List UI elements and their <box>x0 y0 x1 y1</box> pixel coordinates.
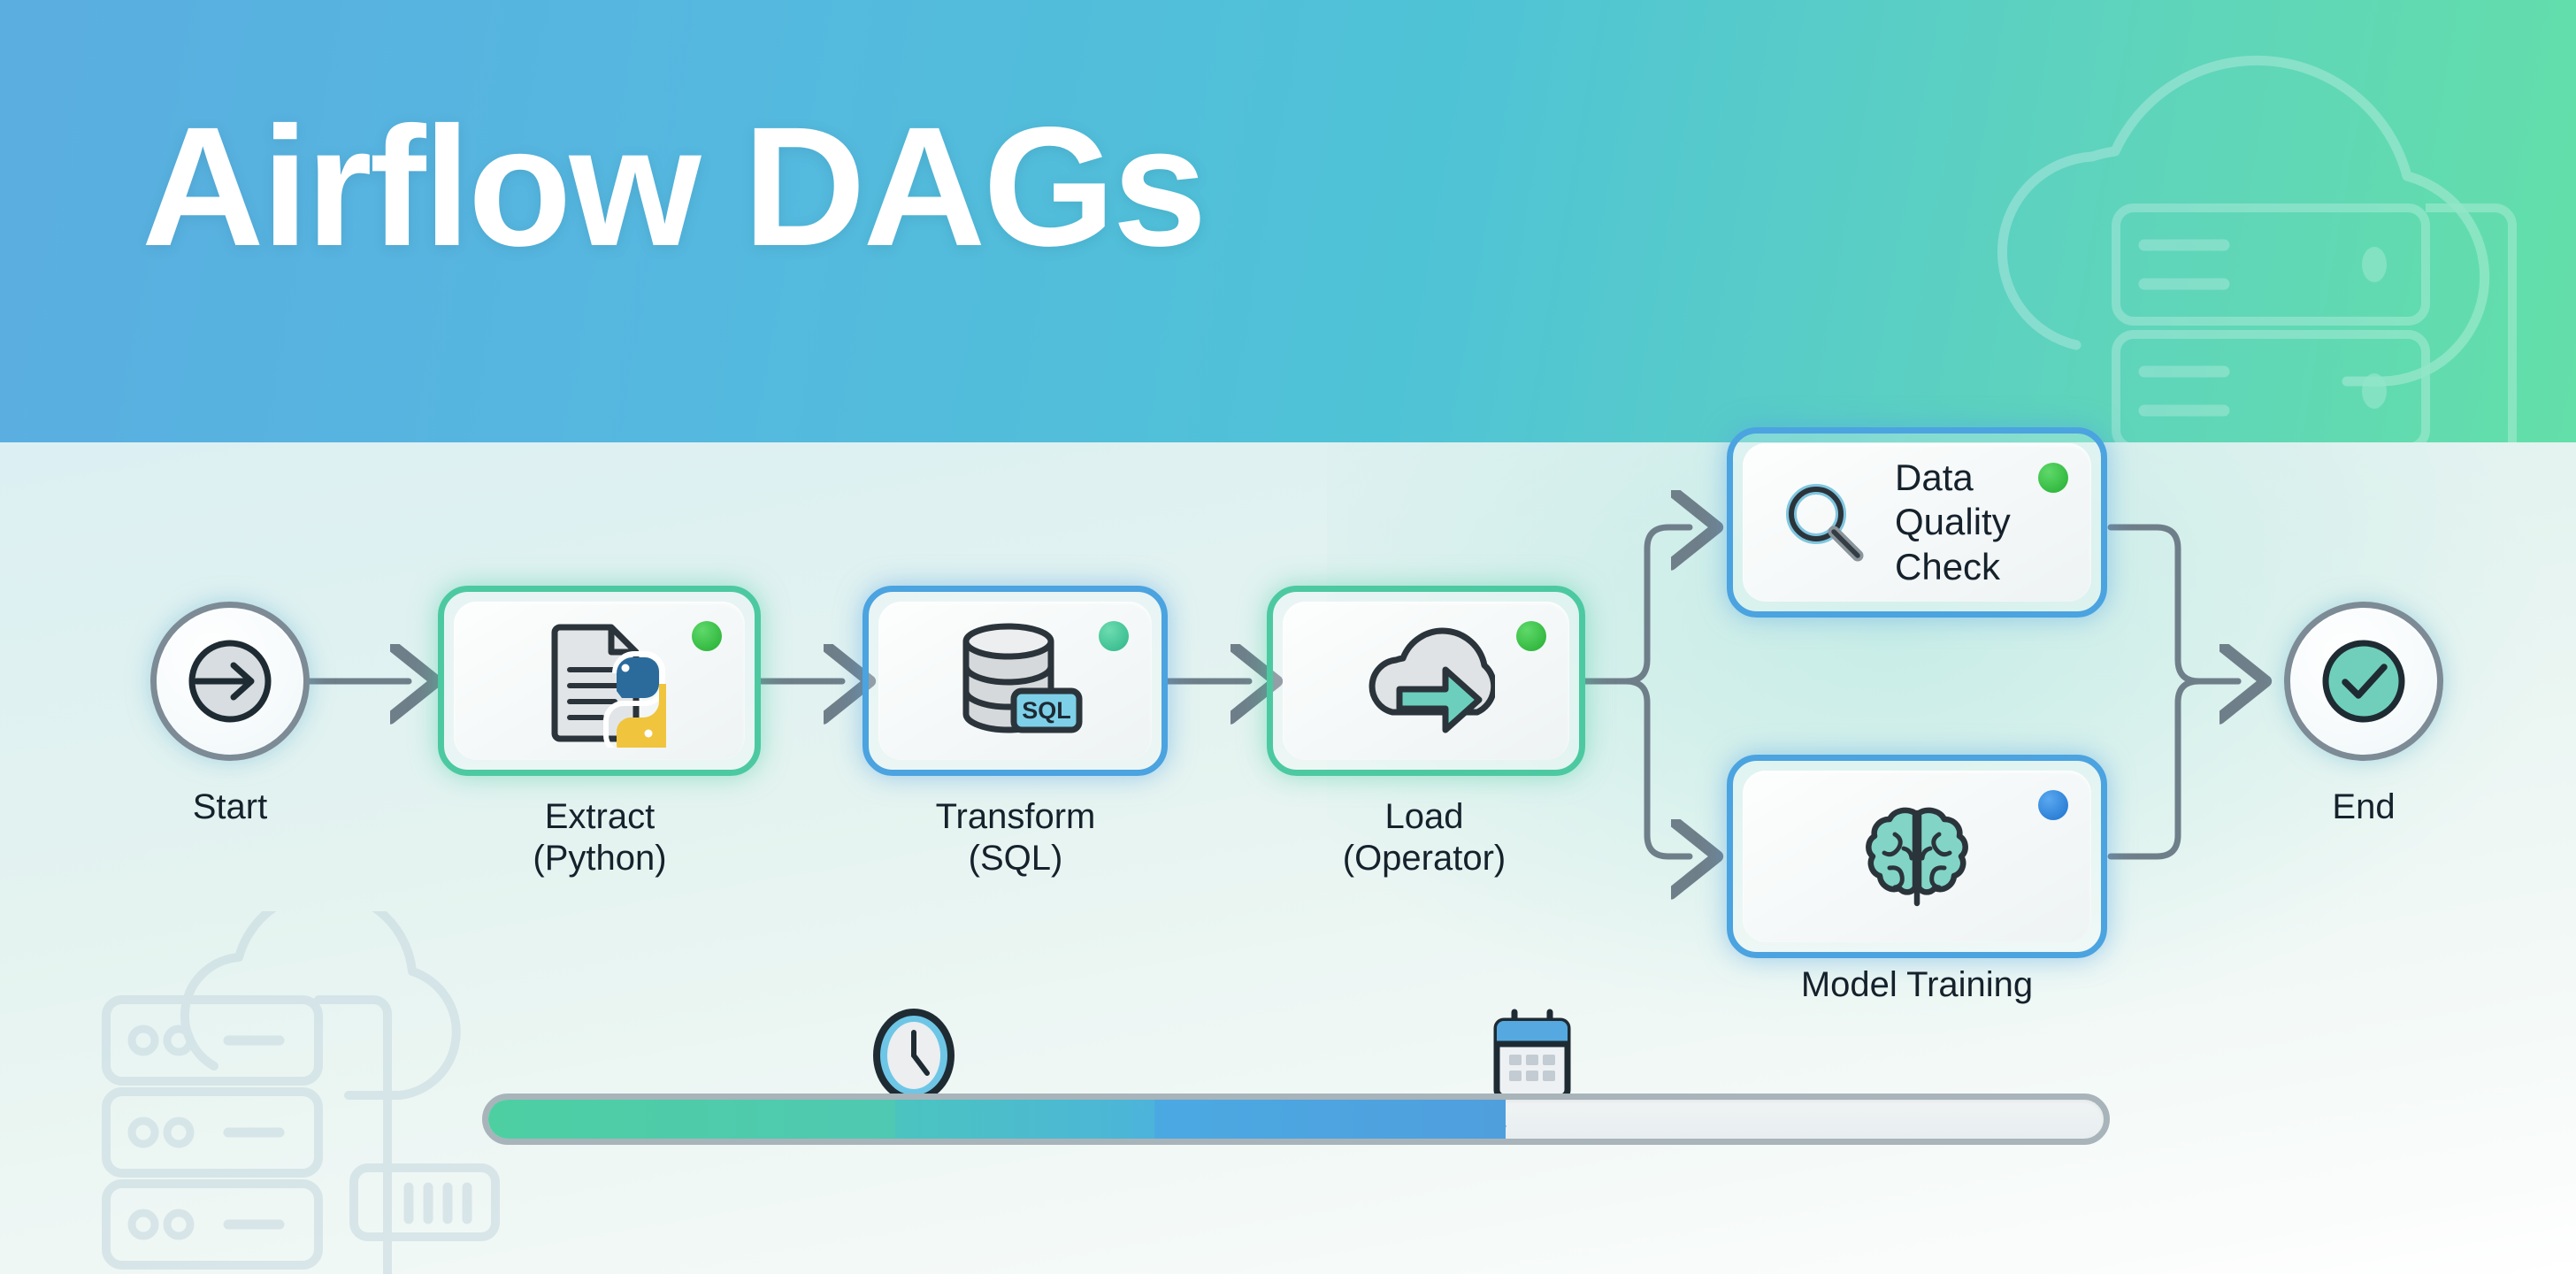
node-load-body <box>1283 602 1569 760</box>
chevron-divider-icon <box>873 1100 896 1145</box>
arrow-into-circle-icon <box>184 635 276 727</box>
node-transform-label-line1: Transform <box>936 797 1096 836</box>
node-load[interactable] <box>1267 586 1585 776</box>
node-model-training-label: Model Training <box>1731 964 2103 1006</box>
node-load-label-line1: Load <box>1385 797 1464 836</box>
node-data-quality-check-body: Data Quality Check <box>1743 443 2091 602</box>
node-start[interactable] <box>150 602 310 761</box>
node-end-label: End <box>2231 787 2496 827</box>
node-model-training-label-line1: Model Training <box>1801 965 2033 1004</box>
node-transform[interactable]: SQL <box>862 586 1168 776</box>
dag-diagram-canvas: Airflow DAGs <box>0 0 2576 1274</box>
chevron-divider-icon <box>1483 1100 1506 1145</box>
sql-database-icon: SQL <box>947 615 1085 748</box>
status-dot-data-quality-check <box>2038 463 2068 493</box>
node-load-label-line2: (Operator) <box>1238 838 1610 879</box>
node-model-training[interactable] <box>1727 755 2107 958</box>
progress-segment-extract <box>488 1100 895 1139</box>
header-banner: Airflow DAGs <box>0 0 2576 442</box>
clock-icon <box>871 1009 956 1102</box>
magnifier-icon <box>1782 480 1868 566</box>
chevron-divider-icon <box>1132 1100 1155 1145</box>
status-dot-transform <box>1099 621 1129 651</box>
progress-segment-load <box>1154 1100 1506 1139</box>
sql-badge-text: SQL <box>1022 697 1071 724</box>
node-data-quality-check-label-line1: Data Quality <box>1895 457 2011 542</box>
node-extract-label-line2: (Python) <box>414 838 786 879</box>
node-extract-label-line1: Extract <box>545 797 655 836</box>
status-dot-model-training <box>2038 790 2068 820</box>
node-end[interactable] <box>2284 602 2443 761</box>
node-start-label: Start <box>97 787 363 827</box>
node-model-training-body <box>1743 771 2091 942</box>
check-circle-icon <box>2318 635 2410 727</box>
pipeline-progress-bar[interactable] <box>482 1094 2110 1145</box>
node-transform-label: Transform (SQL) <box>830 796 1201 879</box>
status-dot-load <box>1516 621 1546 651</box>
node-extract-label: Extract (Python) <box>414 796 786 879</box>
node-data-quality-check[interactable]: Data Quality Check <box>1727 427 2107 618</box>
calendar-icon <box>1490 1007 1575 1102</box>
node-extract-body <box>454 602 745 760</box>
node-transform-label-line2: (SQL) <box>830 838 1201 879</box>
progress-segment-transform <box>895 1100 1154 1139</box>
page-title: Airflow DAGs <box>142 102 1204 272</box>
brain-icon <box>1859 799 1974 914</box>
status-dot-extract <box>692 621 722 651</box>
pipeline-progress-fill <box>488 1100 1506 1139</box>
cloud-server-rack-icon <box>1939 9 2576 442</box>
node-transform-body: SQL <box>878 602 1152 760</box>
node-extract[interactable] <box>438 586 761 776</box>
node-data-quality-check-label-line2: Check <box>1895 546 2000 587</box>
python-document-icon <box>533 615 666 748</box>
cloud-upload-icon <box>1357 615 1495 748</box>
node-load-label: Load (Operator) <box>1238 796 1610 879</box>
